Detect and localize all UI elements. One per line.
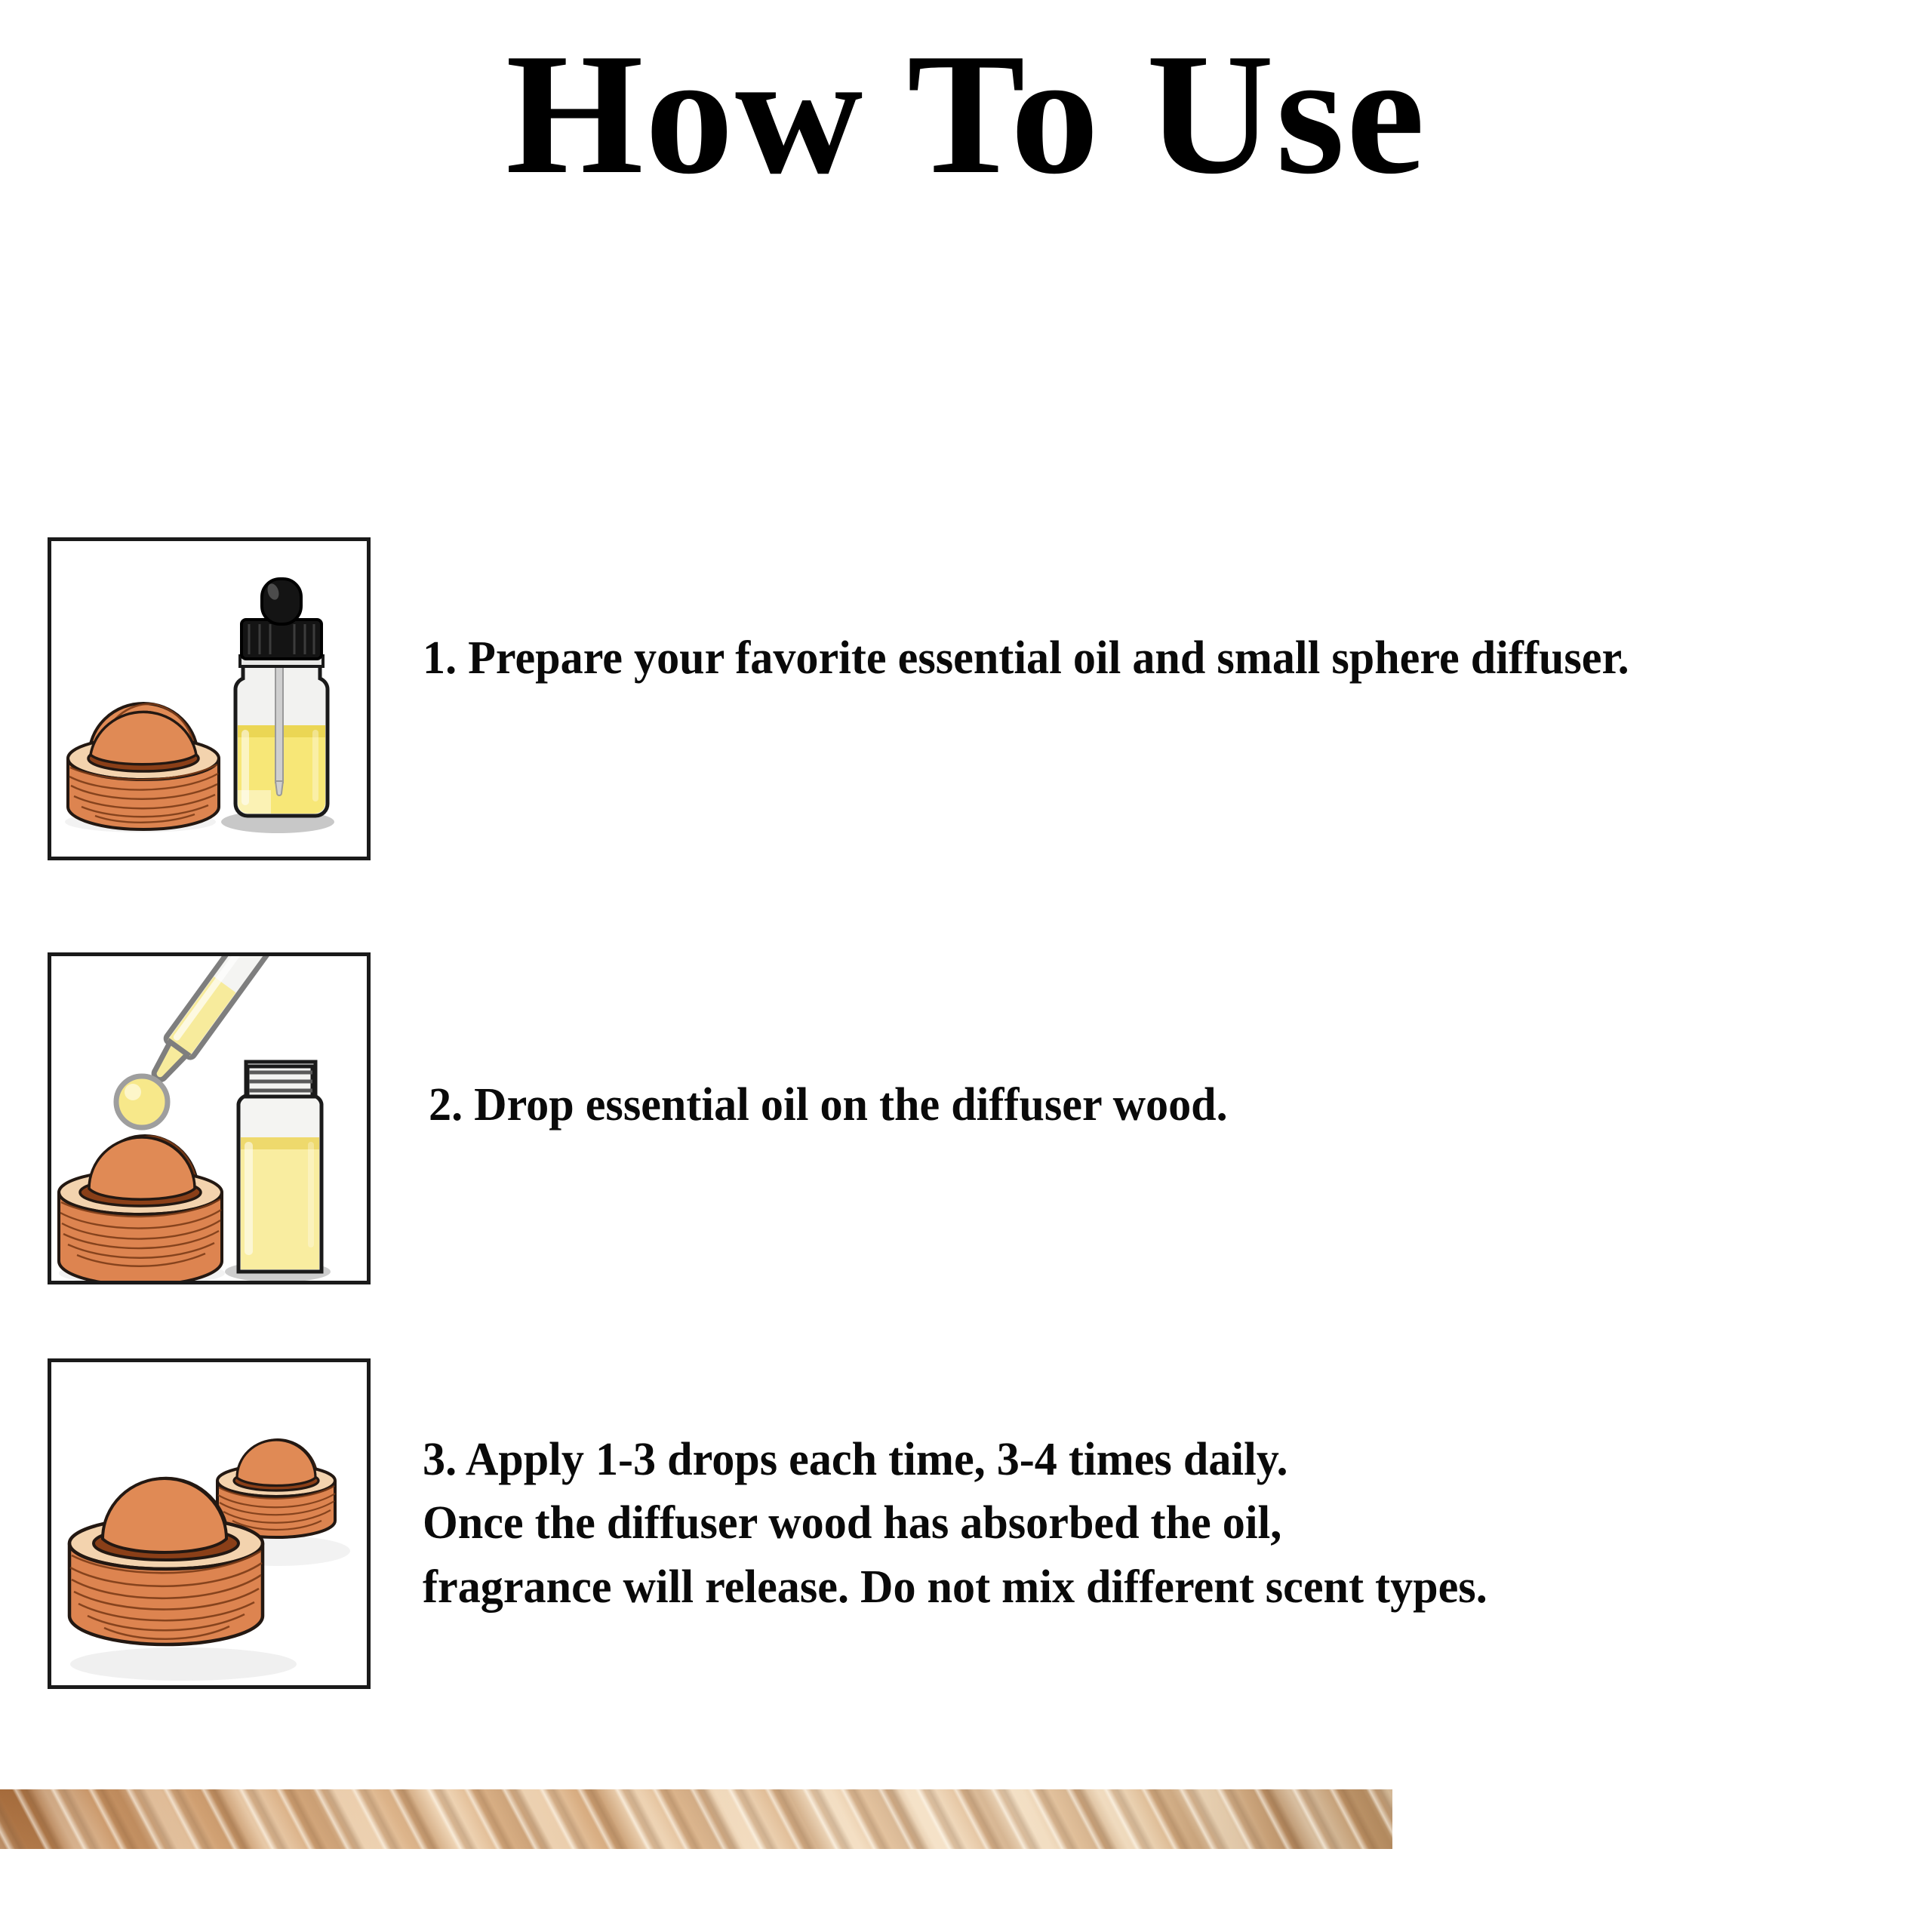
two-sphere-diffusers-illustration bbox=[51, 1362, 367, 1685]
step-1-text: 1. Prepare your favorite essential oil a… bbox=[423, 626, 1857, 690]
diffuser-and-dropper-bottle-illustration bbox=[51, 541, 367, 857]
dropping-oil-on-diffuser-illustration bbox=[51, 956, 367, 1281]
page-title: How To Use bbox=[0, 23, 1932, 205]
step-3-image bbox=[48, 1358, 371, 1689]
how-to-use-infographic: How To Use bbox=[0, 0, 1932, 1932]
step-2-text: 2. Drop essential oil on the diffuser wo… bbox=[429, 1073, 1863, 1137]
step-2-image bbox=[48, 952, 371, 1284]
wood-grain-texture bbox=[695, 333, 1932, 384]
wood-grain-banner-bottom bbox=[0, 1789, 1392, 1849]
wood-grain-banner-top bbox=[695, 333, 1932, 384]
wood-grain-texture bbox=[0, 1789, 1392, 1849]
step-1-image bbox=[48, 537, 371, 860]
step-3-text: 3. Apply 1-3 drops each time, 3-4 times … bbox=[423, 1428, 1857, 1619]
